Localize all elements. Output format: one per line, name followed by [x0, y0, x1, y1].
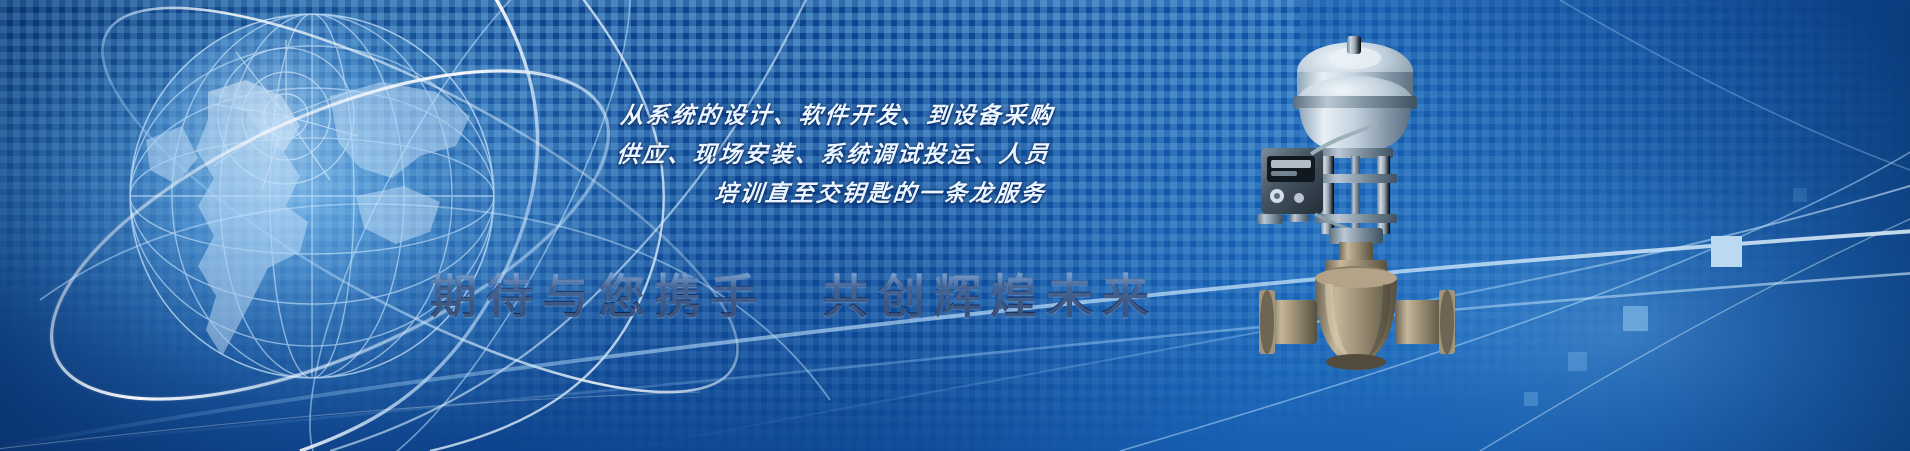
valve-illustration	[1255, 28, 1510, 428]
decorative-square-2	[1623, 306, 1648, 331]
tagline-line-2: 供应、现场安装、系统调试投运、人员	[468, 135, 1052, 174]
headline-text: 期待与您携手 共创辉煌未来	[430, 258, 1158, 327]
decorative-square-1	[1711, 236, 1742, 267]
decorative-square-3	[1568, 352, 1587, 371]
control-valve-product-image	[1255, 28, 1510, 428]
decorative-square-5	[1793, 188, 1807, 202]
decorative-square-4	[1524, 392, 1538, 406]
service-banner: 从系统的设计、软件开发、到设备采购 供应、现场安装、系统调试投运、人员 培训直至…	[0, 0, 1910, 451]
tagline-block: 从系统的设计、软件开发、到设备采购 供应、现场安装、系统调试投运、人员 培训直至…	[464, 96, 1056, 213]
tagline-line-3: 培训直至交钥匙的一条龙服务	[464, 174, 1048, 213]
globe-graphic	[0, 0, 1910, 451]
tagline-line-1: 从系统的设计、软件开发、到设备采购	[472, 96, 1056, 135]
